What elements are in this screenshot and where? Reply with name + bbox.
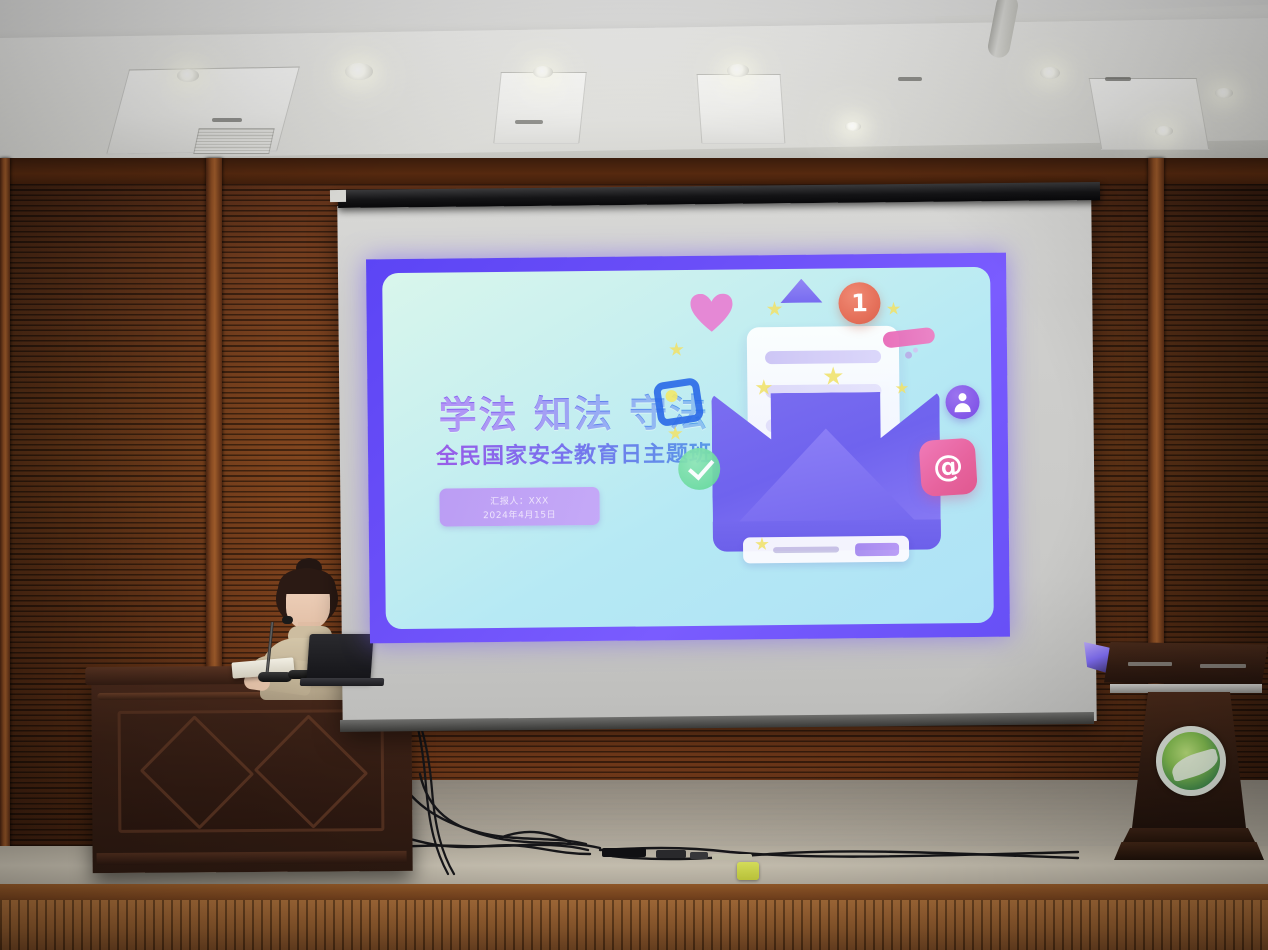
school-emblem [1156,726,1226,796]
envelope-mini-card [743,536,909,564]
star-icon [668,426,683,441]
dot-icon [913,348,918,353]
user-avatar-icon [945,385,979,419]
ceiling-downlight [1155,126,1173,136]
microphone-head-icon [282,616,293,624]
notification-badge-icon: 1 [838,282,880,324]
at-symbol-icon: @ [919,438,978,497]
desk-diamond-carving [140,715,255,830]
lectern-base-lower [1114,842,1264,860]
ceiling-light-panel [697,74,786,144]
yellow-object [737,862,759,880]
mini-card-text-line [773,546,839,553]
dot-icon [905,352,912,359]
lectern-label-left [1128,662,1172,666]
lectern-shelf [1110,684,1262,693]
ceiling-downlight [533,66,553,78]
presentation-slide: 学法 知法 守法 全民国家安全教育日主题班会 汇报人：XXX 2024年4月15… [366,253,1010,644]
check-circle-icon [678,448,720,490]
lectern-base-upper [1122,828,1256,844]
laptop-keyboard[interactable] [300,678,385,686]
slide-illustration: 1 @ [654,273,988,616]
microphone-base [258,672,292,682]
star-icon [766,301,782,317]
stage-front-fluted-panel [0,900,1268,950]
ceiling-vent [193,128,275,154]
lectern-top [1104,642,1268,686]
desk-base [97,851,407,865]
triangle-icon [780,279,822,303]
vent-slot-icon [1105,77,1131,81]
lectern-label-right [1200,664,1246,668]
chat-bubble-icon [652,377,704,427]
hair-front [278,570,336,594]
ceiling-light-panel [1089,78,1210,150]
vent-slot-icon [898,77,922,81]
ceiling-downlight [1215,88,1233,98]
mini-card-button-icon [855,543,899,556]
ceiling-downlight [345,63,373,80]
ceiling-downlight [1040,67,1060,79]
vent-slot-icon [212,118,242,122]
ceiling-downlight [177,69,199,82]
lecture-hall-scene: 学法 知法 守法 全民国家安全教育日主题班会 汇报人：XXX 2024年4月15… [0,0,1268,950]
slide-content-area: 学法 知法 守法 全民国家安全教育日主题班会 汇报人：XXX 2024年4月15… [382,267,994,629]
heart-icon [690,294,732,332]
ceiling-downlight [727,64,749,77]
slide-date-line: 2024年4月15日 [483,507,556,521]
screen-bracket [330,190,346,202]
slide-presenter-line: 汇报人：XXX [490,493,549,507]
star-icon [886,302,900,316]
laptop-screen[interactable] [306,634,373,682]
lectern [1104,636,1268,876]
wall-top-beam [0,158,1268,184]
ceiling-light-panel [493,72,587,144]
vent-slot-icon [515,120,543,124]
wall-column-divider [0,158,10,888]
ceiling-downlight [845,122,861,131]
star-icon [669,342,684,357]
slide-presenter-badge: 汇报人：XXX 2024年4月15日 [439,487,599,527]
